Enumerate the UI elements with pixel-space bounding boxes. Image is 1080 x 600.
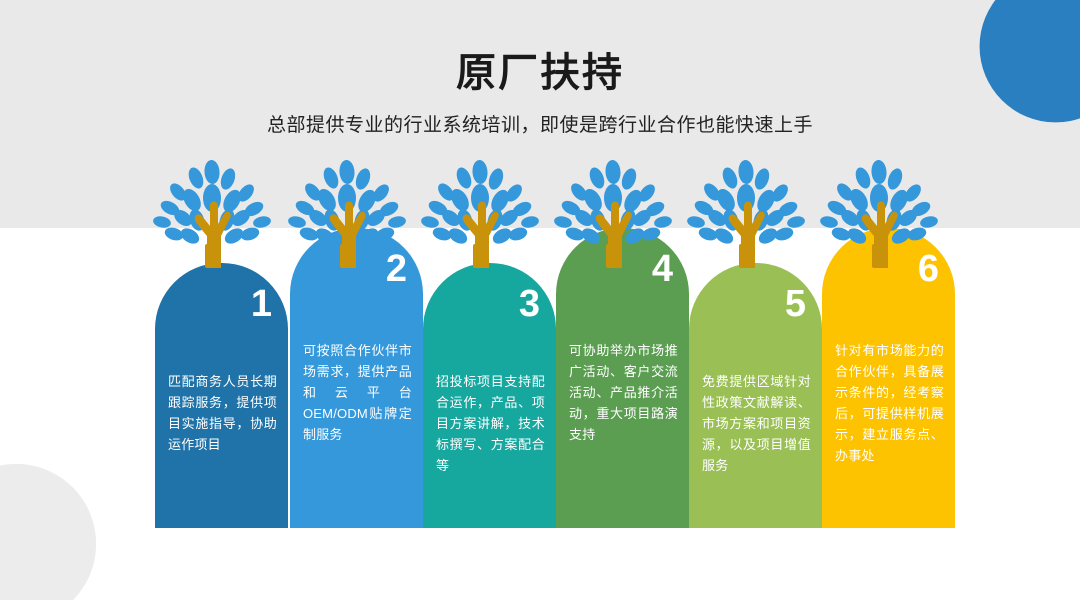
column-text-4: 可协助举办市场推广活动、客户交流活动、产品推介活动，重大项目路演支持 <box>569 340 678 445</box>
column-number-1: 1 <box>251 285 272 323</box>
slide-canvas: 原厂扶持 总部提供专业的行业系统培训，即使是跨行业合作也能快速上手 <box>0 0 1080 600</box>
support-columns: 1 匹配商务人员长期跟踪服务，提供项目实施指导，协助运作项目 2 可按照合作伙伴… <box>155 0 953 600</box>
column-number-2: 2 <box>386 250 407 288</box>
column-number-5: 5 <box>785 285 806 323</box>
column-text-5: 免费提供区域针对性政策文献解读、市场方案和项目资源，以及项目增值服务 <box>702 371 811 476</box>
support-column-6[interactable]: 6 针对有市场能力的合作伙伴，具备展示条件的，经考察后，可提供样机展示，建立服务… <box>822 228 955 528</box>
gray-pill-decoration <box>0 431 129 600</box>
hand-tree-icon <box>418 158 542 268</box>
column-text-3: 招投标项目支持配合运作，产品、项目方案讲解，技术标撰写、方案配合等 <box>436 371 545 476</box>
column-number-4: 4 <box>652 250 673 288</box>
hand-tree-icon <box>684 158 808 268</box>
support-column-5[interactable]: 5 免费提供区域针对性政策文献解读、市场方案和项目资源，以及项目增值服务 <box>689 263 822 528</box>
support-column-3[interactable]: 3 招投标项目支持配合运作，产品、项目方案讲解，技术标撰写、方案配合等 <box>423 263 556 528</box>
column-text-2: 可按照合作伙伴市场需求，提供产品和云平台OEM/ODM贴牌定制服务 <box>303 340 412 445</box>
support-column-1[interactable]: 1 匹配商务人员长期跟踪服务，提供项目实施指导，协助运作项目 <box>155 263 288 528</box>
column-text-1: 匹配商务人员长期跟踪服务，提供项目实施指导，协助运作项目 <box>168 371 277 455</box>
column-text-6: 针对有市场能力的合作伙伴，具备展示条件的，经考察后，可提供样机展示，建立服务点、… <box>835 340 944 466</box>
hand-tree-icon <box>150 158 274 268</box>
support-column-2[interactable]: 2 可按照合作伙伴市场需求，提供产品和云平台OEM/ODM贴牌定制服务 <box>290 228 423 528</box>
column-number-6: 6 <box>918 250 939 288</box>
column-number-3: 3 <box>519 285 540 323</box>
support-column-4[interactable]: 4 可协助举办市场推广活动、客户交流活动、产品推介活动，重大项目路演支持 <box>556 228 689 528</box>
